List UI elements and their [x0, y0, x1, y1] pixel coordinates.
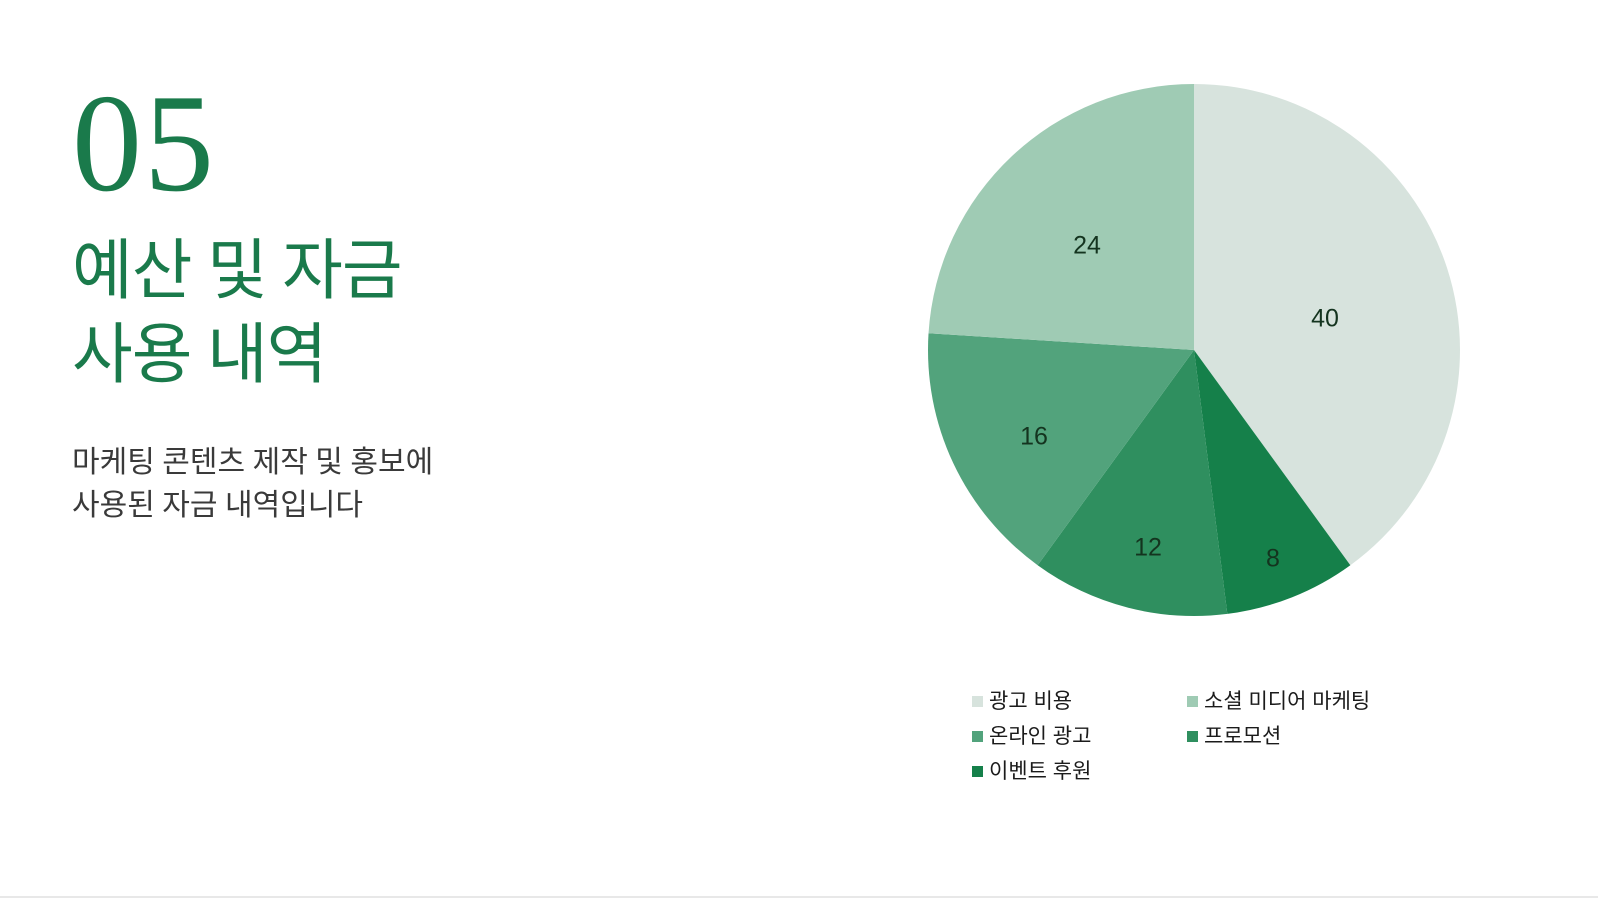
legend-item[interactable]: 소셜 미디어 마케팅 [1187, 685, 1402, 718]
legend-swatch-icon [972, 766, 983, 777]
pie-slice-label: 24 [1073, 232, 1101, 260]
legend-item-label: 소셜 미디어 마케팅 [1204, 691, 1370, 712]
legend-swatch-icon [972, 696, 983, 707]
legend-item-label: 이벤트 후원 [989, 761, 1091, 782]
pie-slice-label: 12 [1134, 534, 1162, 562]
legend-item-label: 온라인 광고 [989, 726, 1091, 747]
chart-container: 408121624 광고 비용 소셜 미디어 마케팅 온라인 광고 프로모션 이… [900, 70, 1500, 810]
legend-item[interactable]: 광고 비용 [972, 685, 1187, 718]
page-subtitle: 마케팅 콘텐츠 제작 및 홍보에 사용된 자금 내역입니다 [72, 441, 632, 528]
legend-swatch-icon [1187, 731, 1198, 742]
slide-text-block: 05 예산 및 자금 사용 내역 마케팅 콘텐츠 제작 및 홍보에 사용된 자금… [72, 74, 632, 528]
legend-item[interactable]: 이벤트 후원 [972, 755, 1187, 788]
slide-canvas: 05 예산 및 자금 사용 내역 마케팅 콘텐츠 제작 및 홍보에 사용된 자금… [0, 0, 1598, 898]
legend-swatch-icon [1187, 696, 1198, 707]
section-number: 05 [72, 74, 632, 214]
pie-slice-label: 8 [1266, 545, 1280, 573]
pie-slice[interactable] [929, 84, 1194, 350]
pie-slice-label: 40 [1311, 305, 1339, 333]
legend-item[interactable]: 프로모션 [1187, 720, 1402, 753]
pie-chart: 408121624 [900, 70, 1500, 670]
pie-chart-svg: 408121624 [900, 70, 1500, 670]
legend-item-label: 광고 비용 [989, 691, 1072, 712]
page-title: 예산 및 자금 사용 내역 [72, 230, 632, 399]
legend-item[interactable]: 온라인 광고 [972, 720, 1187, 753]
legend-swatch-icon [972, 731, 983, 742]
pie-slice-label: 16 [1020, 423, 1048, 451]
legend-item-label: 프로모션 [1204, 726, 1281, 747]
chart-legend: 광고 비용 소셜 미디어 마케팅 온라인 광고 프로모션 이벤트 후원 [972, 685, 1442, 790]
